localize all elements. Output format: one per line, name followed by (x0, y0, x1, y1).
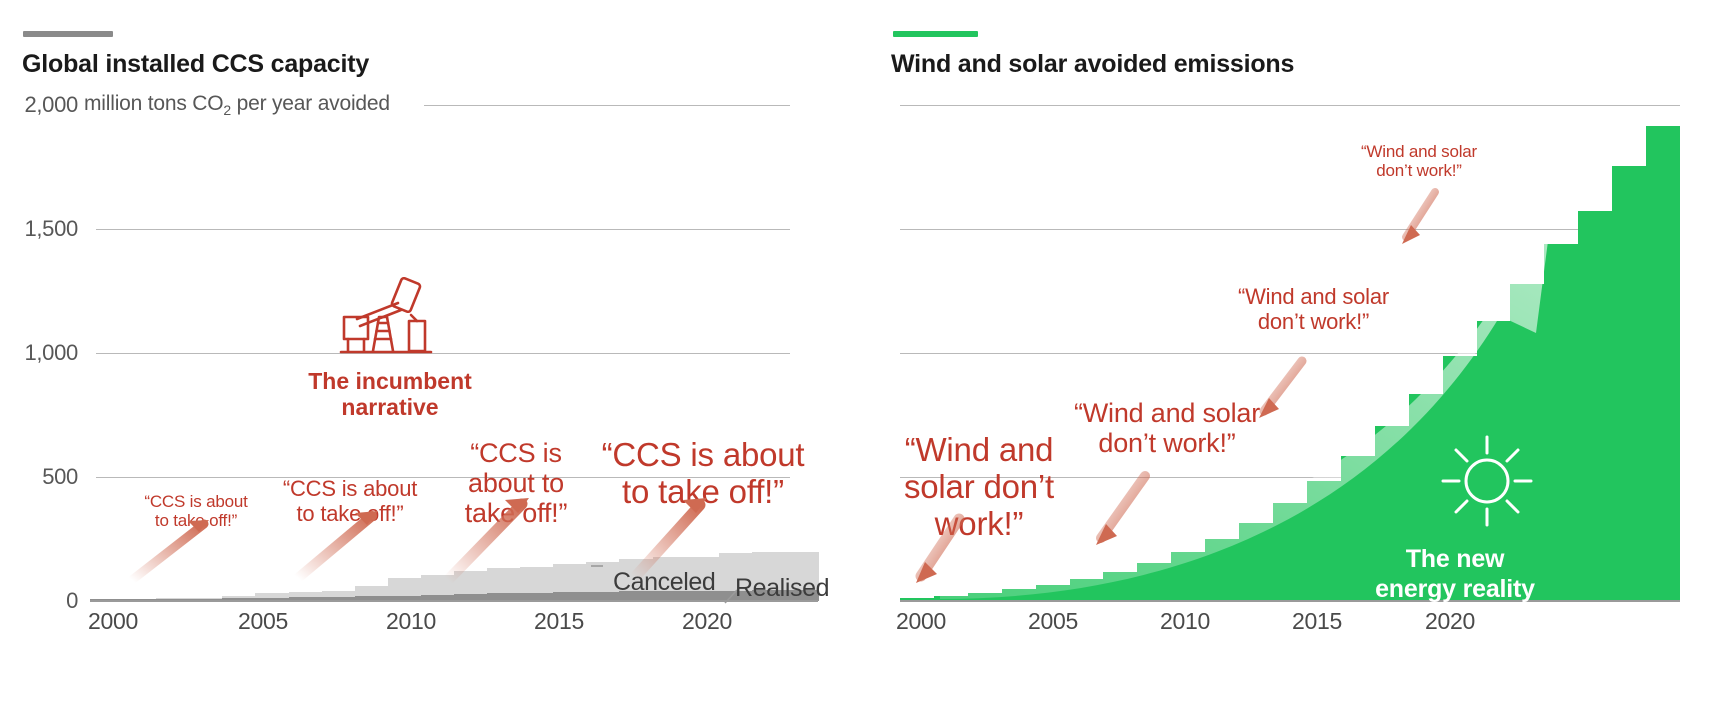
bar-wind-solar (1103, 572, 1137, 602)
left-title-rule (23, 31, 113, 37)
right-xtick-2020: 2020 (1425, 608, 1475, 635)
left-xtick-2005: 2005 (238, 608, 288, 635)
left-quote-2: “CCS is about to take off!” (266, 477, 434, 526)
bar-wind-solar (1239, 523, 1273, 601)
bar-wind-solar (1578, 211, 1612, 601)
new-energy-reality-label: The new energy reality (1345, 545, 1565, 604)
left-quote-4: “CCS is about to take off!” (587, 437, 819, 511)
oil-pumpjack-icon (339, 277, 441, 357)
right-panel-title: Wind and solar avoided emissions (891, 50, 1294, 79)
left-ytick-2000: 2,000 (18, 92, 78, 118)
bar-wind-solar (1137, 563, 1171, 601)
bar-wind-solar (1273, 503, 1307, 601)
bar-wind-solar (1070, 579, 1104, 601)
right-quote-1: “Wind and solar don’t work!” (888, 432, 1070, 543)
incumbent-narrative-label: The incumbent narrative (293, 368, 487, 421)
left-quote-1: “CCS is about to take off!” (126, 492, 266, 530)
bar-wind-solar (1171, 552, 1205, 601)
left-xtick-2020: 2020 (682, 608, 732, 635)
left-xtick-2010: 2010 (386, 608, 436, 635)
sun-icon (1437, 431, 1537, 531)
bar-wind-solar (1036, 585, 1070, 602)
left-x-axis (90, 600, 818, 602)
right-xtick-2000: 2000 (896, 608, 946, 635)
right-xtick-2005: 2005 (1028, 608, 1078, 635)
right-quote-4: “Wind and solar don’t work!” (1345, 142, 1493, 180)
right-quote-2: “Wind and solar don’t work!” (1058, 398, 1276, 458)
infographic-board: Global installed CCS capacity 2,000 mill… (0, 0, 1710, 715)
left-quote-3: “CCS is about to take off!” (446, 438, 586, 529)
right-quote-3: “Wind and solar don’t work!” (1221, 285, 1406, 334)
right-xtick-2015: 2015 (1292, 608, 1342, 635)
left-panel-title: Global installed CCS capacity (22, 50, 369, 79)
left-ytick-500: 500 (18, 464, 78, 490)
bar-wind-solar (1612, 166, 1646, 601)
panel-wind-solar: Wind and solar avoided emissions (855, 0, 1710, 715)
series-label-realised: Realised (735, 574, 829, 603)
panel-ccs-capacity: Global installed CCS capacity 2,000 mill… (0, 0, 855, 715)
left-xtick-2015: 2015 (534, 608, 584, 635)
left-xtick-2000: 2000 (88, 608, 138, 635)
left-ytick-1000: 1,000 (18, 340, 78, 366)
series-label-canceled: Canceled (613, 568, 715, 597)
bar-wind-solar (1205, 539, 1239, 602)
left-ytick-1500: 1,500 (18, 216, 78, 242)
right-title-rule (893, 31, 978, 37)
bar-wind-solar (1307, 481, 1341, 601)
bar-wind-solar (1646, 126, 1680, 601)
right-xtick-2010: 2010 (1160, 608, 1210, 635)
left-ytick-0: 0 (18, 588, 78, 614)
